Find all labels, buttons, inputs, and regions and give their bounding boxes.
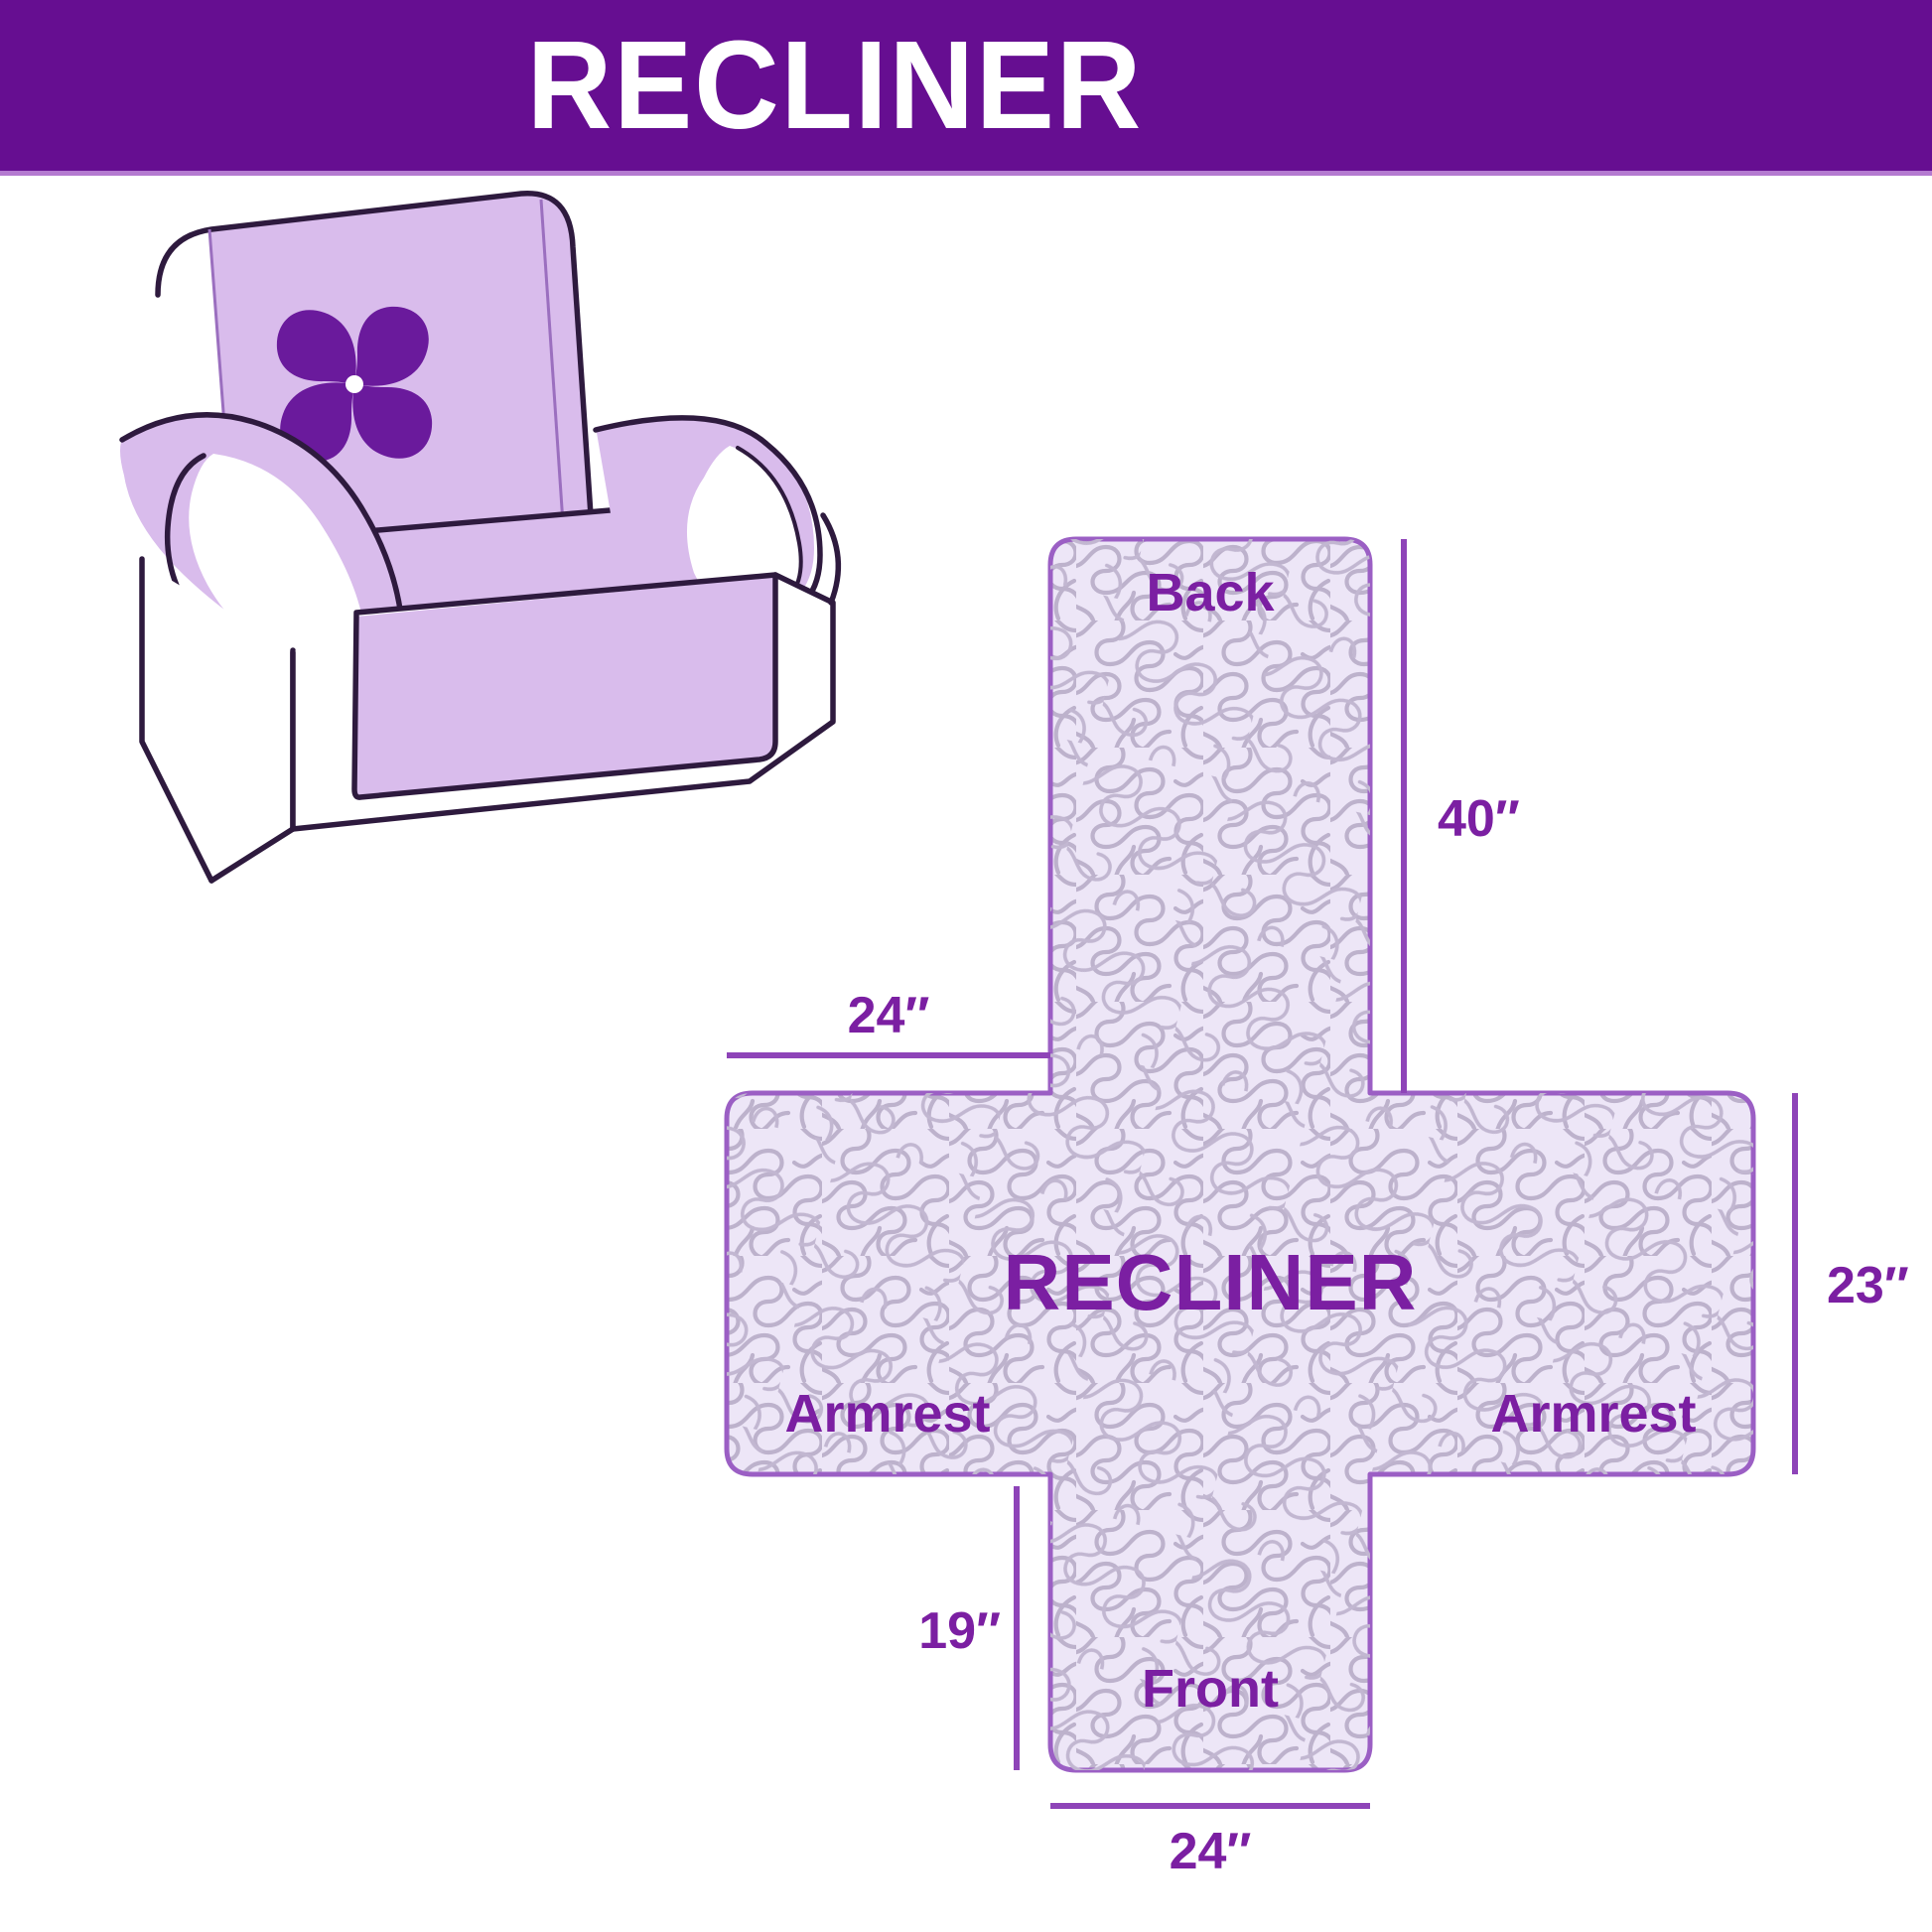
panel-label-armrest-left: Armrest xyxy=(784,1384,990,1444)
panel-label-back: Back xyxy=(1146,563,1275,622)
dimension-back-width: 24″ xyxy=(727,987,1050,1055)
dimension-armrest-height: 23″ xyxy=(1795,1093,1909,1474)
header-banner: RECLINER xyxy=(0,0,1932,171)
panel-label-armrest-right: Armrest xyxy=(1490,1384,1696,1444)
content-area: .ol { fill:none; stroke:#2E1A3E; stroke-… xyxy=(0,176,1932,1932)
dimension-value-19: 19″ xyxy=(918,1602,1001,1660)
dimension-value-23: 23″ xyxy=(1827,1257,1909,1314)
panel-label-front: Front xyxy=(1142,1659,1279,1719)
dimension-value-24-bottom: 24″ xyxy=(1170,1823,1252,1880)
page-title: RECLINER xyxy=(0,0,1743,171)
slipcover-flat-layout-diagram: .panel { fill:url(#quilt); stroke:#9B5FC… xyxy=(695,493,1932,1903)
dimension-front-height: 19″ xyxy=(918,1486,1017,1770)
dimension-value-24-top: 24″ xyxy=(848,987,930,1044)
dimension-back-height: 40″ xyxy=(1404,539,1520,1093)
cover-cross-shape xyxy=(695,493,1932,1903)
dimension-value-40: 40″ xyxy=(1438,790,1520,848)
center-label-recliner: RECLINER xyxy=(1004,1238,1418,1326)
dimension-front-width: 24″ xyxy=(1050,1806,1370,1880)
